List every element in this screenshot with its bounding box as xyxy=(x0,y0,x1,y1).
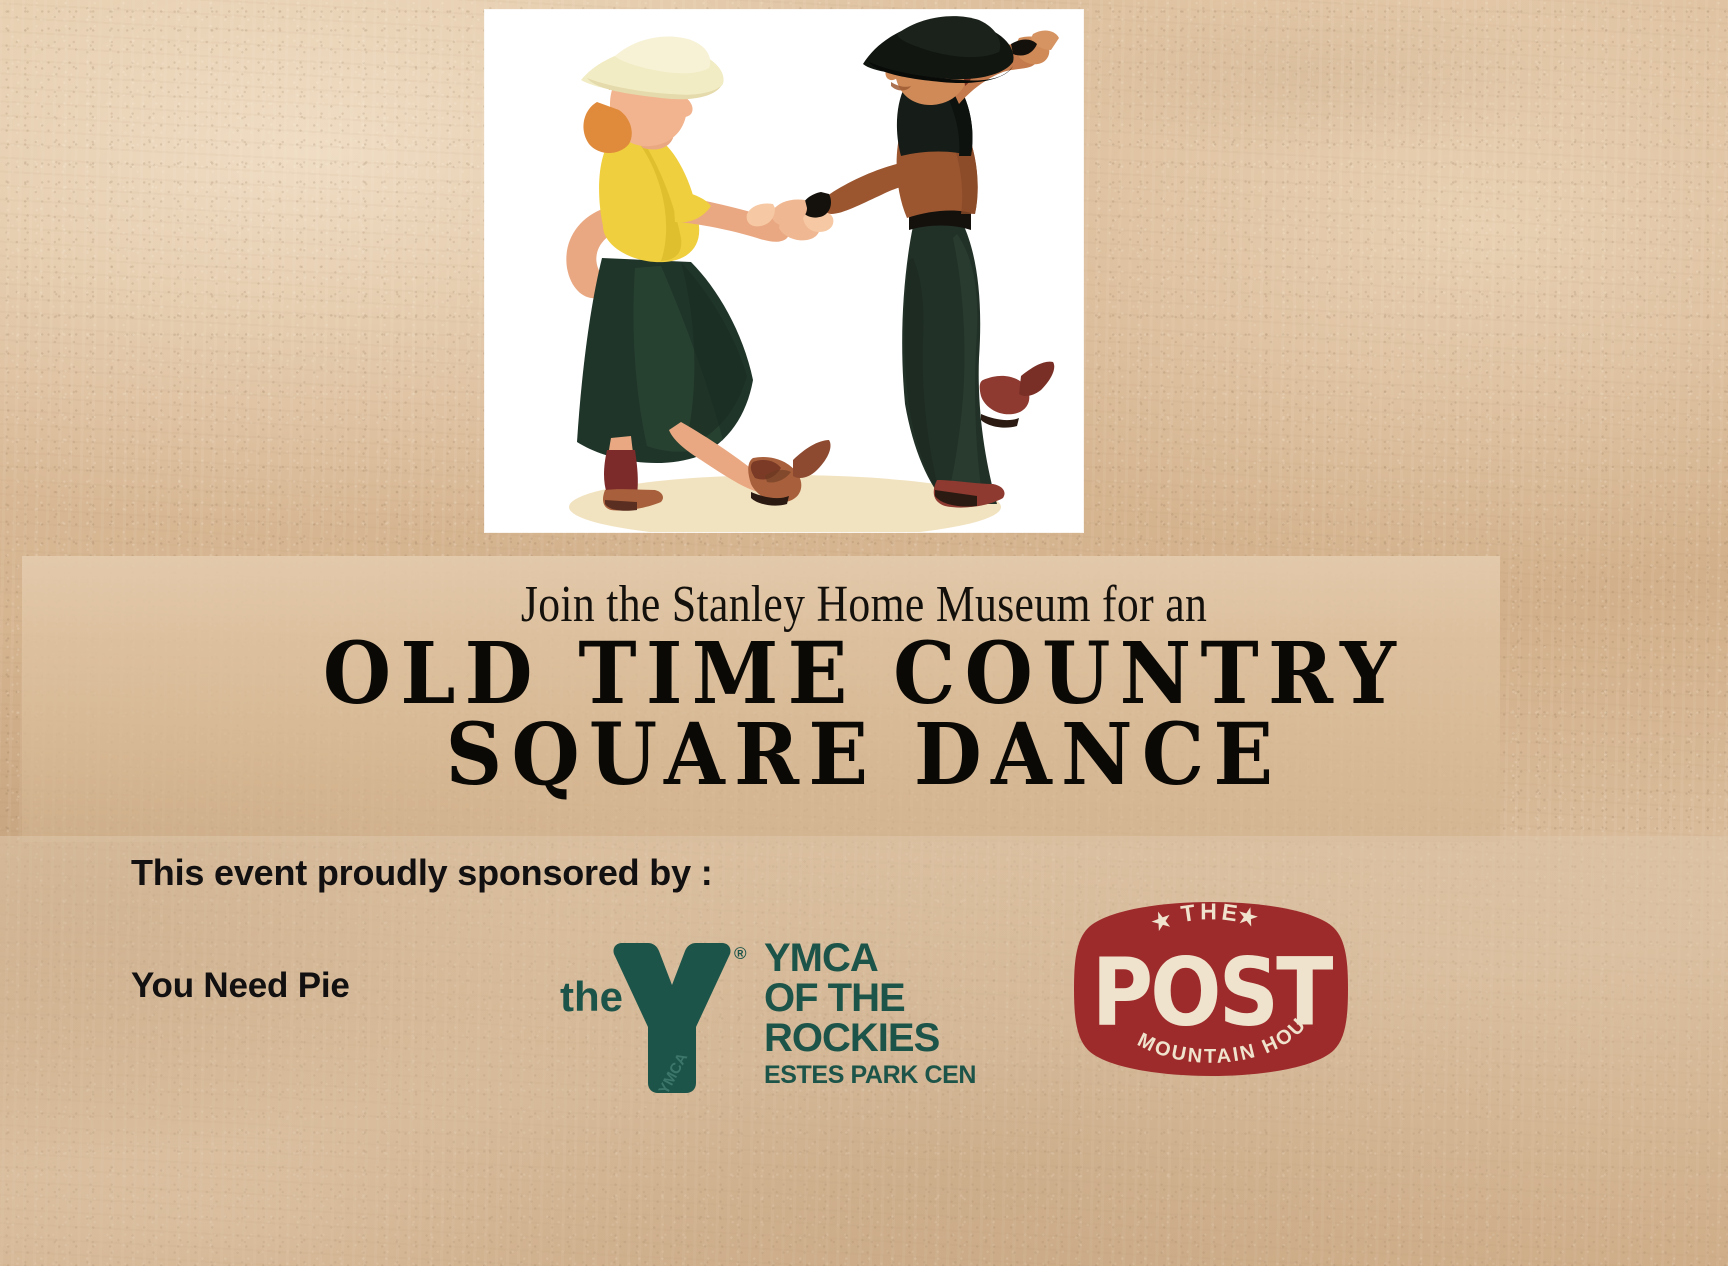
ymca-wordmark-line2: OF THE xyxy=(764,976,905,1020)
post-top-text: THE xyxy=(1179,900,1243,927)
ymca-y-mark: YMCA xyxy=(613,943,730,1095)
poster-canvas: Join the Stanley Home Museum for an OLD … xyxy=(0,0,1728,1266)
ymca-wordmark-line1: YMCA xyxy=(764,936,878,980)
ymca-trademark-icon: ® xyxy=(734,944,747,963)
the-post-mountain-house-logo: ★ THE ★ POST MOUNTAIN HOUSE xyxy=(1072,900,1350,1078)
square-dancing-couple-illustration xyxy=(485,10,1083,532)
headline-line-2: SQUARE DANCE xyxy=(0,705,1728,805)
ymca-wordmark-line4: ESTES PARK CENTER xyxy=(764,1061,976,1089)
sponsor-section-label: This event proudly sponsored by : xyxy=(131,852,712,894)
ymca-the-word: the xyxy=(560,973,623,1020)
ymca-of-the-rockies-logo: the YMCA ® YMCA OF THE ROCKIES ESTES PAR… xyxy=(556,915,976,1095)
ymca-wordmark-line3: ROCKIES xyxy=(764,1016,940,1060)
sponsor-you-need-pie: You Need Pie xyxy=(131,966,350,1006)
